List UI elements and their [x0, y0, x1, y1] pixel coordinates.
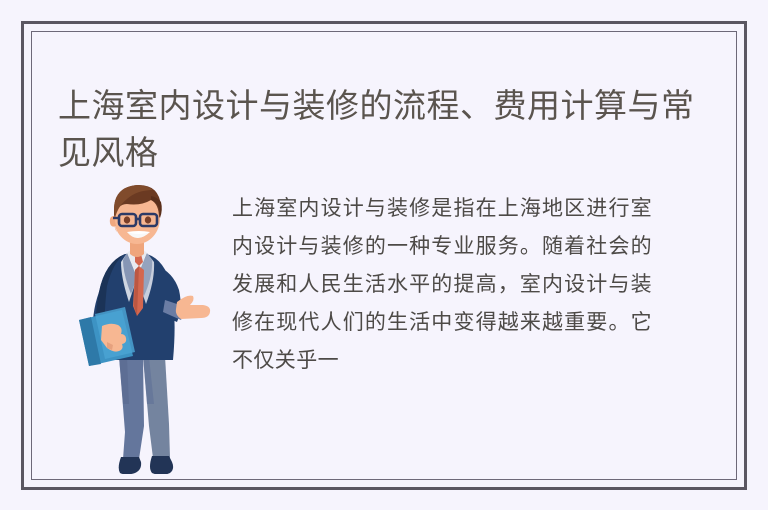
legs-group — [119, 356, 170, 459]
page-title: 上海室内设计与装修的流程、费用计算与常见风格 — [58, 82, 718, 176]
article-body-text: 上海室内设计与装修是指在上海地区进行室内设计与装修的一种专业服务。随着社会的发展… — [232, 190, 652, 380]
card-content: 上海室内设计与装修的流程、费用计算与常见风格 — [32, 32, 736, 479]
article-card: 上海室内设计与装修的流程、费用计算与常见风格 — [21, 21, 747, 490]
businessman-presenting-illustration — [77, 174, 212, 474]
shoes-group — [119, 456, 173, 474]
head-group — [110, 185, 162, 244]
open-hand — [176, 296, 210, 319]
inner-frame-border: 上海室内设计与装修的流程、费用计算与常见风格 — [31, 31, 737, 480]
